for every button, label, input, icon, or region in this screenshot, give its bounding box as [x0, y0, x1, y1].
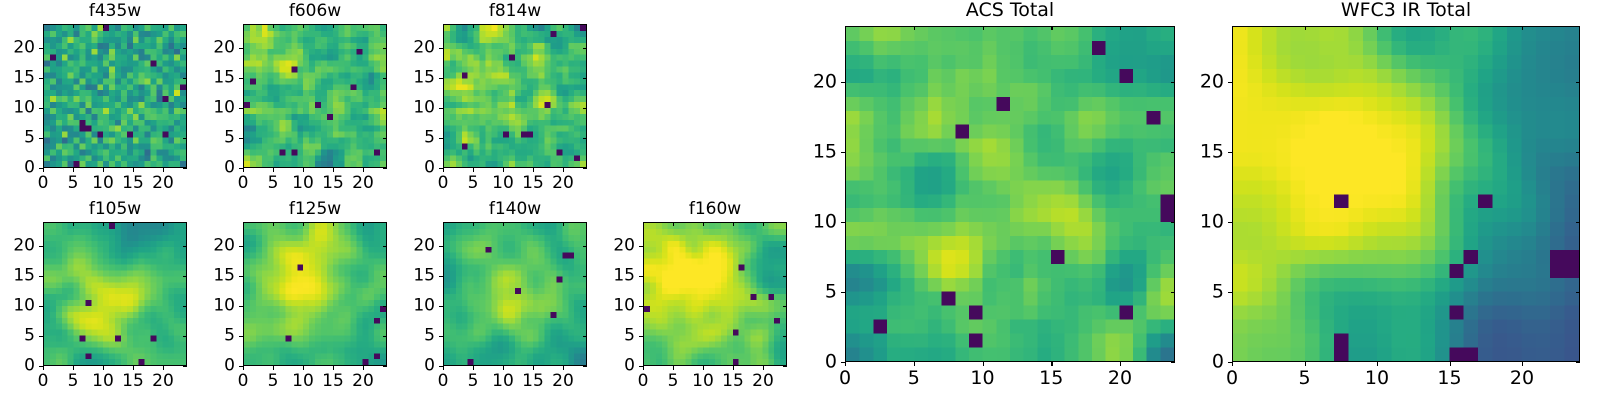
- y-tick-f606w-0: [239, 168, 243, 169]
- x-tick-wfc3_ir_total-0: [1232, 362, 1233, 366]
- x-tick-f125w-4: [363, 366, 364, 370]
- y-ticklabel-f140w-4: 20: [397, 238, 435, 255]
- x-tick-f435w-1: [73, 168, 74, 172]
- x-tick-f105w-4: [163, 366, 164, 370]
- x-tick-inner-f105w-0: [43, 222, 44, 226]
- x-tick-f606w-3: [333, 168, 334, 172]
- y-ticklabel-f105w-1: 5: [0, 328, 35, 345]
- y-ticklabel-f814w-3: 15: [397, 70, 435, 87]
- x-tick-inner-f814w-2: [503, 24, 504, 28]
- heatmap-image: [44, 223, 186, 365]
- x-ticklabel-f435w-2: 10: [92, 175, 114, 192]
- x-tick-inner-f140w-0: [443, 222, 444, 226]
- x-tick-inner-f105w-3: [133, 222, 134, 226]
- y-ticklabel-acs_total-1: 5: [799, 283, 837, 302]
- x-tick-inner-f606w-2: [303, 24, 304, 28]
- x-tick-f125w-2: [303, 366, 304, 370]
- x-ticklabel-wfc3_ir_total-1: 5: [1298, 369, 1310, 388]
- y-ticklabel-wfc3_ir_total-2: 10: [1186, 213, 1224, 232]
- y-tick-f125w-2: [239, 306, 243, 307]
- y-tick-inner-f160w-0: [783, 366, 787, 367]
- x-tick-inner-f160w-3: [733, 222, 734, 226]
- y-tick-inner-f160w-4: [783, 246, 787, 247]
- y-tick-inner-f125w-4: [383, 246, 387, 247]
- y-ticklabel-acs_total-4: 20: [799, 73, 837, 92]
- y-ticklabel-f160w-2: 10: [597, 298, 635, 315]
- x-ticklabel-wfc3_ir_total-3: 15: [1437, 369, 1461, 388]
- y-tick-f160w-2: [639, 306, 643, 307]
- panel-title-f105w: f105w: [43, 200, 187, 219]
- x-tick-inner-f125w-0: [243, 222, 244, 226]
- y-tick-wfc3_ir_total-3: [1228, 152, 1232, 153]
- y-tick-f140w-4: [439, 246, 443, 247]
- x-ticklabel-f140w-0: 0: [438, 373, 449, 390]
- x-tick-inner-f606w-4: [363, 24, 364, 28]
- y-tick-inner-f814w-4: [583, 48, 587, 49]
- y-tick-inner-wfc3_ir_total-1: [1576, 292, 1580, 293]
- y-tick-inner-acs_total-4: [1171, 82, 1175, 83]
- panel-title-f140w: f140w: [443, 200, 587, 219]
- heatmap-image: [44, 25, 186, 167]
- x-ticklabel-f105w-3: 15: [122, 373, 144, 390]
- x-tick-f160w-1: [673, 366, 674, 370]
- x-tick-inner-f125w-2: [303, 222, 304, 226]
- y-tick-inner-f435w-1: [183, 138, 187, 139]
- x-tick-acs_total-1: [914, 362, 915, 366]
- y-ticklabel-f606w-4: 20: [197, 40, 235, 57]
- x-ticklabel-f125w-4: 20: [352, 373, 374, 390]
- y-tick-f125w-1: [239, 336, 243, 337]
- axes-f125w: [243, 222, 387, 366]
- y-ticklabel-f435w-3: 15: [0, 70, 35, 87]
- x-tick-f160w-4: [763, 366, 764, 370]
- y-tick-acs_total-3: [841, 152, 845, 153]
- x-ticklabel-f606w-4: 20: [352, 175, 374, 192]
- y-ticklabel-f125w-0: 0: [197, 358, 235, 375]
- panel-title-f814w: f814w: [443, 2, 587, 21]
- y-tick-f125w-4: [239, 246, 243, 247]
- y-tick-wfc3_ir_total-4: [1228, 82, 1232, 83]
- x-tick-wfc3_ir_total-1: [1305, 362, 1306, 366]
- y-ticklabel-acs_total-2: 10: [799, 213, 837, 232]
- x-ticklabel-acs_total-0: 0: [839, 369, 851, 388]
- y-ticklabel-f125w-4: 20: [197, 238, 235, 255]
- heatmap-image: [244, 25, 386, 167]
- axes-f814w: [443, 24, 587, 168]
- x-ticklabel-f814w-2: 10: [492, 175, 514, 192]
- y-tick-inner-f105w-2: [183, 306, 187, 307]
- y-ticklabel-f160w-1: 5: [597, 328, 635, 345]
- y-tick-wfc3_ir_total-1: [1228, 292, 1232, 293]
- x-tick-f814w-3: [533, 168, 534, 172]
- x-ticklabel-f606w-2: 10: [292, 175, 314, 192]
- x-tick-inner-f435w-4: [163, 24, 164, 28]
- x-ticklabel-f105w-4: 20: [152, 373, 174, 390]
- y-tick-f606w-3: [239, 78, 243, 79]
- y-tick-inner-f125w-1: [383, 336, 387, 337]
- x-ticklabel-f105w-1: 5: [68, 373, 79, 390]
- panel-f105w: f105w0510152005101520: [43, 222, 187, 366]
- x-ticklabel-f105w-0: 0: [38, 373, 49, 390]
- y-tick-f140w-2: [439, 306, 443, 307]
- y-tick-acs_total-0: [841, 362, 845, 363]
- x-tick-wfc3_ir_total-2: [1377, 362, 1378, 366]
- x-tick-inner-f606w-3: [333, 24, 334, 28]
- axes-wfc3_ir_total: [1232, 26, 1580, 362]
- panel-f435w: f435w0510152005101520: [43, 24, 187, 168]
- x-tick-inner-f160w-4: [763, 222, 764, 226]
- y-tick-inner-f160w-3: [783, 276, 787, 277]
- y-tick-inner-f140w-0: [583, 366, 587, 367]
- panel-title-wfc3_ir_total: WFC3 IR Total: [1232, 0, 1580, 21]
- x-tick-f606w-2: [303, 168, 304, 172]
- y-tick-f105w-2: [39, 306, 43, 307]
- x-tick-f140w-0: [443, 366, 444, 370]
- x-ticklabel-f160w-4: 20: [752, 373, 774, 390]
- y-ticklabel-f435w-2: 10: [0, 100, 35, 117]
- x-tick-f105w-2: [103, 366, 104, 370]
- y-tick-wfc3_ir_total-2: [1228, 222, 1232, 223]
- y-tick-f814w-1: [439, 138, 443, 139]
- x-ticklabel-f606w-0: 0: [238, 175, 249, 192]
- panel-acs_total: ACS Total0510152005101520: [845, 26, 1175, 362]
- x-tick-inner-f160w-0: [643, 222, 644, 226]
- x-tick-inner-f140w-2: [503, 222, 504, 226]
- y-tick-inner-f606w-3: [383, 78, 387, 79]
- panel-title-f606w: f606w: [243, 2, 387, 21]
- y-tick-f606w-2: [239, 108, 243, 109]
- y-tick-inner-f105w-0: [183, 366, 187, 367]
- y-tick-f814w-0: [439, 168, 443, 169]
- y-tick-f160w-0: [639, 366, 643, 367]
- x-tick-f160w-0: [643, 366, 644, 370]
- x-ticklabel-f140w-2: 10: [492, 373, 514, 390]
- y-tick-f160w-1: [639, 336, 643, 337]
- axes-f606w: [243, 24, 387, 168]
- x-tick-f435w-0: [43, 168, 44, 172]
- y-tick-inner-f140w-3: [583, 276, 587, 277]
- y-ticklabel-f105w-3: 15: [0, 268, 35, 285]
- y-tick-f140w-0: [439, 366, 443, 367]
- x-ticklabel-acs_total-4: 20: [1108, 369, 1132, 388]
- y-tick-inner-f435w-0: [183, 168, 187, 169]
- x-ticklabel-f160w-1: 5: [668, 373, 679, 390]
- x-tick-f160w-3: [733, 366, 734, 370]
- y-ticklabel-f435w-0: 0: [0, 160, 35, 177]
- y-tick-inner-f814w-1: [583, 138, 587, 139]
- y-tick-inner-f606w-4: [383, 48, 387, 49]
- x-tick-f814w-1: [473, 168, 474, 172]
- heatmap-image: [846, 27, 1174, 361]
- y-tick-f160w-3: [639, 276, 643, 277]
- y-tick-f435w-2: [39, 108, 43, 109]
- x-ticklabel-f125w-0: 0: [238, 373, 249, 390]
- x-ticklabel-f435w-3: 15: [122, 175, 144, 192]
- y-tick-inner-acs_total-3: [1171, 152, 1175, 153]
- y-tick-inner-f814w-0: [583, 168, 587, 169]
- axes-f105w: [43, 222, 187, 366]
- y-tick-inner-f606w-0: [383, 168, 387, 169]
- x-tick-inner-wfc3_ir_total-3: [1450, 26, 1451, 30]
- y-tick-inner-f435w-4: [183, 48, 187, 49]
- x-tick-wfc3_ir_total-3: [1450, 362, 1451, 366]
- x-ticklabel-f160w-2: 10: [692, 373, 714, 390]
- y-tick-inner-acs_total-2: [1171, 222, 1175, 223]
- x-ticklabel-f435w-1: 5: [68, 175, 79, 192]
- x-tick-f140w-3: [533, 366, 534, 370]
- x-tick-inner-f140w-1: [473, 222, 474, 226]
- x-ticklabel-f140w-4: 20: [552, 373, 574, 390]
- y-tick-inner-f435w-3: [183, 78, 187, 79]
- panel-f140w: f140w0510152005101520: [443, 222, 587, 366]
- panel-f125w: f125w0510152005101520: [243, 222, 387, 366]
- x-tick-f105w-0: [43, 366, 44, 370]
- y-ticklabel-f606w-2: 10: [197, 100, 235, 117]
- panel-title-f435w: f435w: [43, 2, 187, 21]
- y-tick-inner-f105w-4: [183, 246, 187, 247]
- y-ticklabel-f814w-1: 5: [397, 130, 435, 147]
- y-tick-f435w-1: [39, 138, 43, 139]
- x-tick-f125w-0: [243, 366, 244, 370]
- x-ticklabel-f125w-3: 15: [322, 373, 344, 390]
- y-ticklabel-f125w-2: 10: [197, 298, 235, 315]
- x-tick-inner-f814w-0: [443, 24, 444, 28]
- y-tick-f140w-1: [439, 336, 443, 337]
- x-tick-inner-f125w-4: [363, 222, 364, 226]
- y-tick-inner-f160w-2: [783, 306, 787, 307]
- y-tick-inner-f814w-2: [583, 108, 587, 109]
- y-ticklabel-f140w-3: 15: [397, 268, 435, 285]
- heatmap-image: [644, 223, 786, 365]
- x-ticklabel-f814w-4: 20: [552, 175, 574, 192]
- x-tick-f814w-2: [503, 168, 504, 172]
- x-tick-inner-f160w-1: [673, 222, 674, 226]
- y-tick-f606w-1: [239, 138, 243, 139]
- x-tick-inner-f606w-0: [243, 24, 244, 28]
- axes-f435w: [43, 24, 187, 168]
- panel-f160w: f160w0510152005101520: [643, 222, 787, 366]
- x-tick-f105w-1: [73, 366, 74, 370]
- panel-title-acs_total: ACS Total: [845, 0, 1175, 21]
- y-ticklabel-f160w-0: 0: [597, 358, 635, 375]
- y-ticklabel-f606w-1: 5: [197, 130, 235, 147]
- y-tick-wfc3_ir_total-0: [1228, 362, 1232, 363]
- y-ticklabel-acs_total-0: 0: [799, 353, 837, 372]
- x-tick-f140w-2: [503, 366, 504, 370]
- x-tick-inner-f105w-2: [103, 222, 104, 226]
- x-tick-f606w-0: [243, 168, 244, 172]
- y-ticklabel-f606w-0: 0: [197, 160, 235, 177]
- x-tick-f435w-4: [163, 168, 164, 172]
- y-tick-inner-f140w-4: [583, 246, 587, 247]
- panel-f606w: f606w0510152005101520: [243, 24, 387, 168]
- x-tick-inner-f125w-3: [333, 222, 334, 226]
- y-ticklabel-f814w-4: 20: [397, 40, 435, 57]
- y-ticklabel-f814w-2: 10: [397, 100, 435, 117]
- x-tick-inner-f814w-3: [533, 24, 534, 28]
- x-ticklabel-f140w-3: 15: [522, 373, 544, 390]
- x-tick-f160w-2: [703, 366, 704, 370]
- y-tick-inner-acs_total-1: [1171, 292, 1175, 293]
- x-ticklabel-f814w-0: 0: [438, 175, 449, 192]
- y-tick-f160w-4: [639, 246, 643, 247]
- heatmap-image: [1233, 27, 1579, 361]
- y-tick-f814w-2: [439, 108, 443, 109]
- heatmap-image: [444, 223, 586, 365]
- y-tick-inner-f814w-3: [583, 78, 587, 79]
- x-tick-inner-f606w-1: [273, 24, 274, 28]
- x-tick-inner-f105w-1: [73, 222, 74, 226]
- x-tick-inner-f105w-4: [163, 222, 164, 226]
- x-ticklabel-acs_total-3: 15: [1039, 369, 1063, 388]
- x-ticklabel-acs_total-1: 5: [908, 369, 920, 388]
- x-tick-f814w-0: [443, 168, 444, 172]
- x-ticklabel-f814w-3: 15: [522, 175, 544, 192]
- y-tick-f105w-4: [39, 246, 43, 247]
- y-tick-inner-f105w-3: [183, 276, 187, 277]
- y-ticklabel-f140w-2: 10: [397, 298, 435, 315]
- x-tick-inner-f435w-0: [43, 24, 44, 28]
- x-tick-f814w-4: [563, 168, 564, 172]
- x-ticklabel-f105w-2: 10: [92, 373, 114, 390]
- y-tick-inner-f435w-2: [183, 108, 187, 109]
- x-tick-inner-f814w-1: [473, 24, 474, 28]
- x-tick-f140w-1: [473, 366, 474, 370]
- y-ticklabel-f125w-1: 5: [197, 328, 235, 345]
- x-ticklabel-f160w-0: 0: [638, 373, 649, 390]
- y-tick-inner-wfc3_ir_total-4: [1576, 82, 1580, 83]
- x-ticklabel-f606w-1: 5: [268, 175, 279, 192]
- y-ticklabel-f140w-0: 0: [397, 358, 435, 375]
- y-ticklabel-f435w-4: 20: [0, 40, 35, 57]
- y-tick-inner-f125w-2: [383, 306, 387, 307]
- axes-acs_total: [845, 26, 1175, 362]
- x-tick-inner-wfc3_ir_total-1: [1305, 26, 1306, 30]
- y-tick-inner-f606w-1: [383, 138, 387, 139]
- axes-f140w: [443, 222, 587, 366]
- y-tick-f125w-0: [239, 366, 243, 367]
- x-tick-acs_total-4: [1120, 362, 1121, 366]
- y-tick-inner-acs_total-0: [1171, 362, 1175, 363]
- x-tick-inner-f435w-3: [133, 24, 134, 28]
- x-tick-acs_total-2: [983, 362, 984, 366]
- x-tick-inner-f814w-4: [563, 24, 564, 28]
- y-tick-inner-f105w-1: [183, 336, 187, 337]
- x-tick-inner-f140w-4: [563, 222, 564, 226]
- x-tick-inner-acs_total-0: [845, 26, 846, 30]
- panel-wfc3_ir_total: WFC3 IR Total0510152005101520: [1232, 26, 1580, 362]
- panel-f814w: f814w0510152005101520: [443, 24, 587, 168]
- y-tick-f435w-3: [39, 78, 43, 79]
- y-ticklabel-f105w-0: 0: [0, 358, 35, 375]
- heatmap-image: [244, 223, 386, 365]
- y-tick-inner-f606w-2: [383, 108, 387, 109]
- y-tick-f105w-3: [39, 276, 43, 277]
- x-ticklabel-f606w-3: 15: [322, 175, 344, 192]
- x-ticklabel-f140w-1: 5: [468, 373, 479, 390]
- y-ticklabel-wfc3_ir_total-4: 20: [1186, 73, 1224, 92]
- x-tick-f105w-3: [133, 366, 134, 370]
- x-tick-acs_total-0: [845, 362, 846, 366]
- y-ticklabel-f160w-3: 15: [597, 268, 635, 285]
- x-ticklabel-f125w-1: 5: [268, 373, 279, 390]
- y-tick-f606w-4: [239, 48, 243, 49]
- x-tick-inner-acs_total-3: [1051, 26, 1052, 30]
- x-ticklabel-wfc3_ir_total-2: 10: [1365, 369, 1389, 388]
- x-tick-inner-acs_total-2: [983, 26, 984, 30]
- x-ticklabel-f160w-3: 15: [722, 373, 744, 390]
- y-tick-f105w-0: [39, 366, 43, 367]
- x-ticklabel-wfc3_ir_total-4: 20: [1510, 369, 1534, 388]
- y-tick-inner-wfc3_ir_total-0: [1576, 362, 1580, 363]
- y-tick-inner-f160w-1: [783, 336, 787, 337]
- y-tick-f814w-3: [439, 78, 443, 79]
- x-tick-f435w-3: [133, 168, 134, 172]
- y-tick-inner-wfc3_ir_total-2: [1576, 222, 1580, 223]
- y-tick-inner-f125w-3: [383, 276, 387, 277]
- heatmap-image: [444, 25, 586, 167]
- y-tick-acs_total-1: [841, 292, 845, 293]
- y-ticklabel-f140w-1: 5: [397, 328, 435, 345]
- x-tick-f125w-1: [273, 366, 274, 370]
- x-tick-inner-wfc3_ir_total-2: [1377, 26, 1378, 30]
- x-ticklabel-f814w-1: 5: [468, 175, 479, 192]
- y-ticklabel-f814w-0: 0: [397, 160, 435, 177]
- x-tick-inner-f435w-1: [73, 24, 74, 28]
- x-ticklabel-f435w-4: 20: [152, 175, 174, 192]
- figure-canvas: f435w0510152005101520f606w05101520051015…: [0, 0, 1600, 400]
- y-ticklabel-wfc3_ir_total-1: 5: [1186, 283, 1224, 302]
- y-tick-f435w-4: [39, 48, 43, 49]
- x-tick-inner-acs_total-4: [1120, 26, 1121, 30]
- x-ticklabel-acs_total-2: 10: [970, 369, 994, 388]
- y-ticklabel-f435w-1: 5: [0, 130, 35, 147]
- y-ticklabel-f606w-3: 15: [197, 70, 235, 87]
- y-tick-inner-f125w-0: [383, 366, 387, 367]
- x-tick-f435w-2: [103, 168, 104, 172]
- x-tick-f606w-4: [363, 168, 364, 172]
- x-ticklabel-f125w-2: 10: [292, 373, 314, 390]
- x-tick-inner-f435w-2: [103, 24, 104, 28]
- x-tick-inner-wfc3_ir_total-0: [1232, 26, 1233, 30]
- x-ticklabel-wfc3_ir_total-0: 0: [1226, 369, 1238, 388]
- y-ticklabel-acs_total-3: 15: [799, 143, 837, 162]
- y-ticklabel-f105w-4: 20: [0, 238, 35, 255]
- y-ticklabel-wfc3_ir_total-0: 0: [1186, 353, 1224, 372]
- y-ticklabel-wfc3_ir_total-3: 15: [1186, 143, 1224, 162]
- x-tick-wfc3_ir_total-4: [1522, 362, 1523, 366]
- x-tick-inner-f140w-3: [533, 222, 534, 226]
- x-tick-inner-acs_total-1: [914, 26, 915, 30]
- y-tick-f140w-3: [439, 276, 443, 277]
- x-tick-f125w-3: [333, 366, 334, 370]
- y-tick-f814w-4: [439, 48, 443, 49]
- x-tick-f606w-1: [273, 168, 274, 172]
- y-tick-f105w-1: [39, 336, 43, 337]
- y-tick-inner-f140w-1: [583, 336, 587, 337]
- y-ticklabel-f125w-3: 15: [197, 268, 235, 285]
- axes-f160w: [643, 222, 787, 366]
- panel-title-f125w: f125w: [243, 200, 387, 219]
- x-tick-f140w-4: [563, 366, 564, 370]
- y-tick-inner-f140w-2: [583, 306, 587, 307]
- y-ticklabel-f160w-4: 20: [597, 238, 635, 255]
- x-ticklabel-f435w-0: 0: [38, 175, 49, 192]
- y-tick-acs_total-4: [841, 82, 845, 83]
- y-tick-inner-wfc3_ir_total-3: [1576, 152, 1580, 153]
- y-ticklabel-f105w-2: 10: [0, 298, 35, 315]
- panel-title-f160w: f160w: [643, 200, 787, 219]
